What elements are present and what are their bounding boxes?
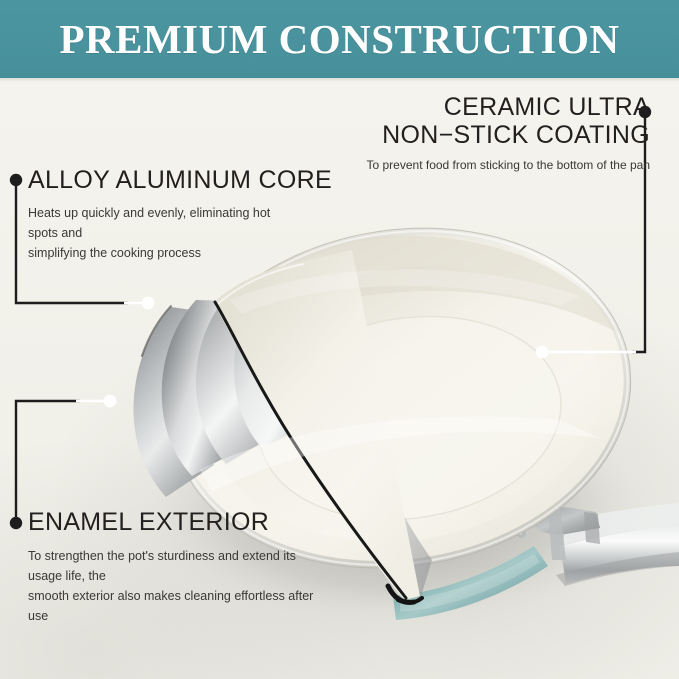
callout-ceramic: CERAMIC ULTRA NON−STICK COATING To preve… [330, 94, 650, 175]
callout-enamel-body: To strengthen the pot's sturdiness and e… [28, 546, 328, 627]
callout-alloy-body-line1: Heats up quickly and evenly, eliminating… [28, 203, 298, 244]
callout-alloy-title: ALLOY ALUMINUM CORE [28, 167, 338, 195]
callout-ceramic-title-line2: NON−STICK COATING [330, 122, 650, 150]
infographic-canvas: PREMIUM CONSTRUCTION [0, 0, 679, 679]
callout-enamel-body-line1: To strengthen the pot's sturdiness and e… [28, 546, 328, 587]
callout-alloy: ALLOY ALUMINUM CORE Heats up quickly and… [28, 167, 338, 263]
callout-ceramic-title: CERAMIC ULTRA NON−STICK COATING [330, 94, 650, 149]
callout-ceramic-title-line1: CERAMIC ULTRA [330, 94, 650, 122]
callout-alloy-body-line2: simplifying the cooking process [28, 243, 298, 263]
callout-enamel: ENAMEL EXTERIOR To strengthen the pot's … [28, 509, 358, 627]
callout-alloy-body: Heats up quickly and evenly, eliminating… [28, 203, 298, 264]
callout-enamel-title: ENAMEL EXTERIOR [28, 509, 358, 537]
callout-ceramic-body: To prevent food from sticking to the bot… [330, 156, 650, 175]
callout-enamel-body-line2: smooth exterior also makes cleaning effo… [28, 586, 328, 627]
